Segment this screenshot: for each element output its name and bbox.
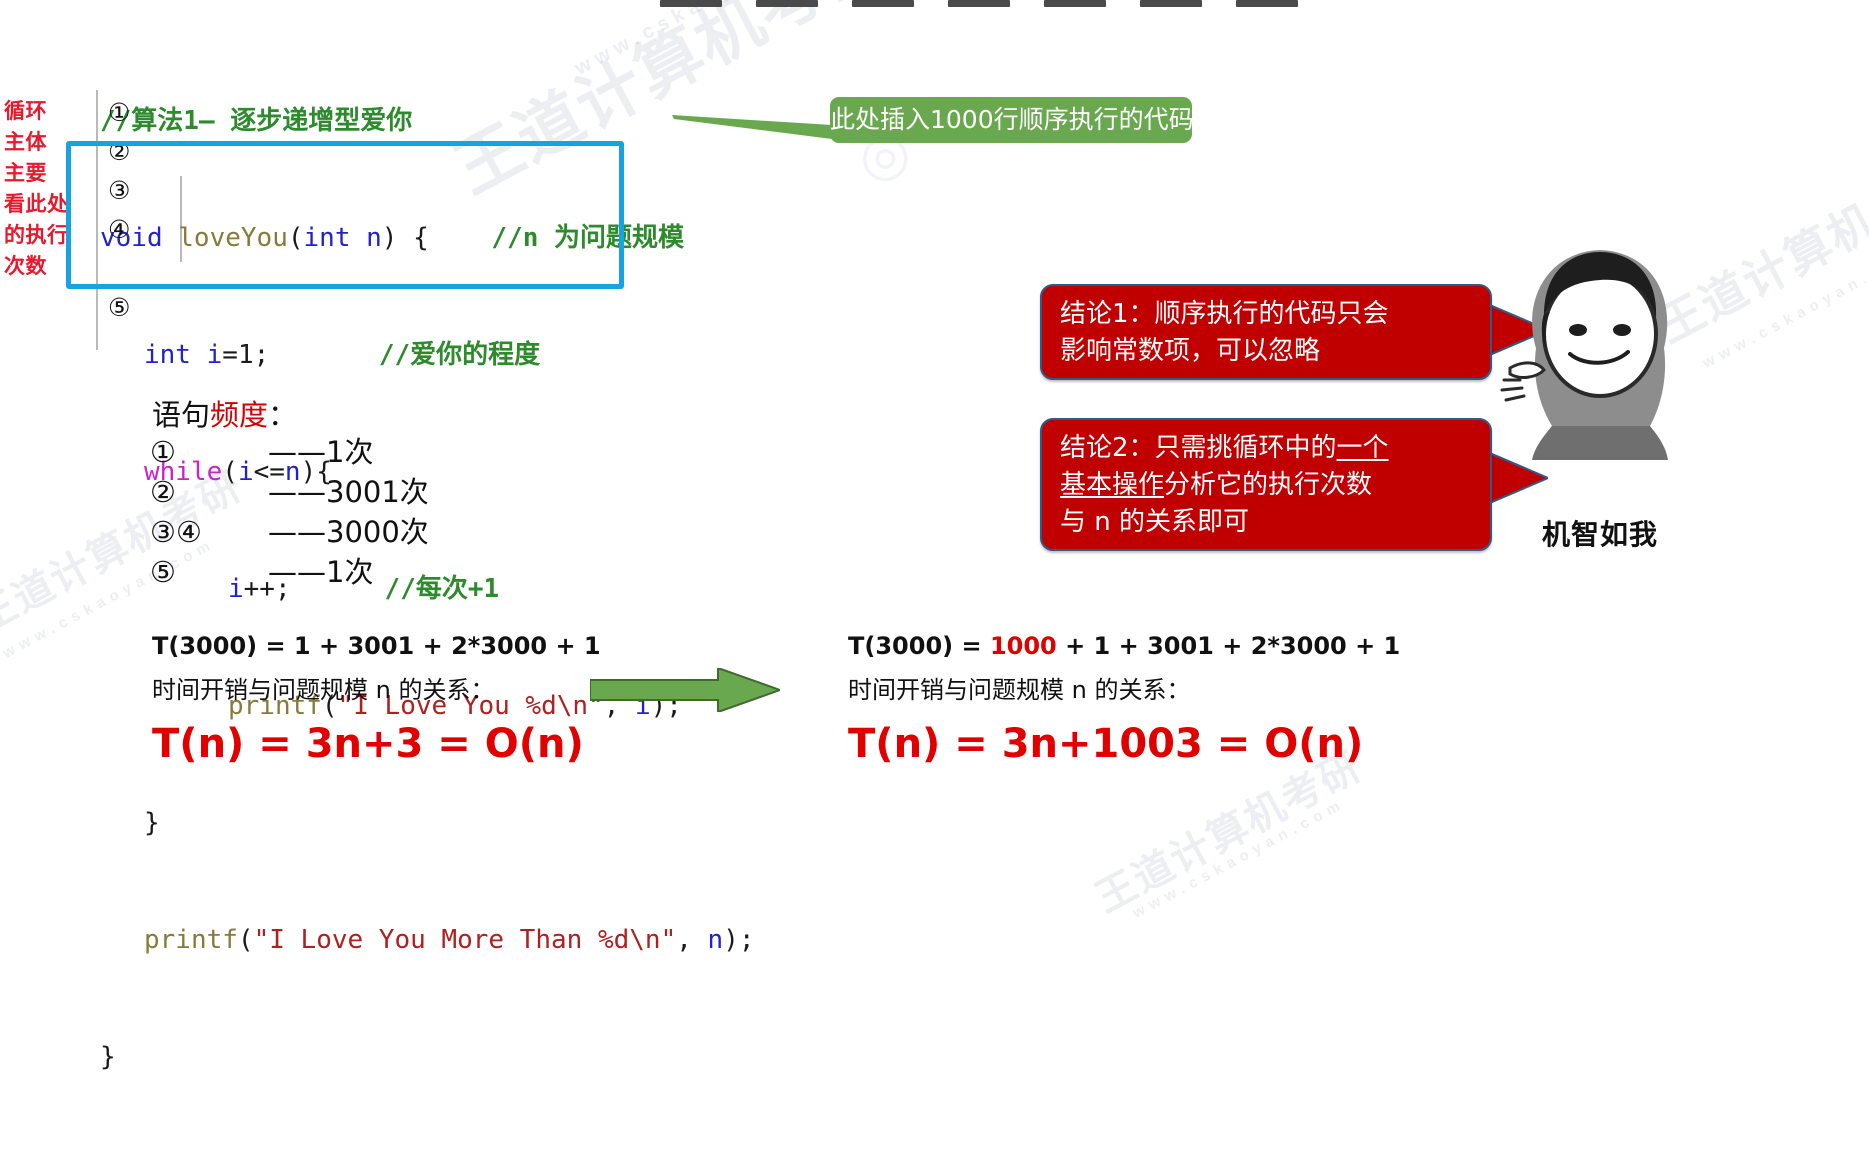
frequency-symbol: ③④ — [150, 512, 268, 552]
code-punct: ; — [254, 340, 270, 370]
frequency-row: ⑤ ——1次 — [150, 552, 429, 592]
frequency-row: ② ——3001次 — [150, 472, 429, 512]
red-callout-2-line2-plain: 分析它的执行次数 — [1164, 470, 1372, 500]
left-formula-block: T(3000) = 1 + 3001 + 2*3000 + 1 时间开销与问题规… — [152, 632, 601, 767]
red-callout-2-line2: 基本操作分析它的执行次数 — [1060, 467, 1472, 504]
code-keyword: int — [144, 340, 191, 370]
watermark-url: www.cskaoyan.com — [1130, 795, 1348, 922]
left-formula-result: T(n) = 3n+3 = O(n) — [152, 721, 601, 767]
frequency-title-prefix: 语句 — [152, 398, 210, 432]
code-line: int i=1; //爱你的程度 — [100, 336, 755, 375]
frequency-row: ③④ ——3000次 — [150, 512, 429, 552]
red-callout-2-line3: 与 n 的关系即可 — [1060, 504, 1472, 541]
frequency-symbol: ⑤ — [150, 552, 268, 592]
frequency-value: ——1次 — [268, 432, 373, 472]
cartoon-avatar — [1500, 230, 1700, 460]
code-identifier: i — [207, 340, 223, 370]
red-callout-1-line2: 影响常数项，可以忽略 — [1060, 333, 1472, 370]
watermark-url: www.cskaoyan.com — [1700, 245, 1869, 372]
frequency-title-highlight: 频度 — [210, 398, 268, 432]
right-formula-added-term: 1000 — [990, 632, 1057, 660]
code-punct: } — [100, 1042, 116, 1072]
code-number: 1 — [238, 340, 254, 370]
right-formula-result: T(n) = 3n+1003 = O(n) — [848, 721, 1400, 767]
code-line: } — [100, 1038, 755, 1077]
code-punct: = — [222, 340, 238, 370]
frequency-value: ——1次 — [268, 552, 373, 592]
green-callout-tail — [672, 113, 832, 139]
loop-body-highlight-box — [66, 141, 624, 289]
left-formula-t3000: T(3000) = 1 + 3001 + 2*3000 + 1 — [152, 632, 601, 660]
red-callout-2-line1-plain: 结论2：只需挑循环中的 — [1060, 433, 1337, 463]
frequency-list: ① ——1次 ② ——3001次 ③④ ——3000次 ⑤ ——1次 — [150, 432, 429, 592]
frequency-row: ① ——1次 — [150, 432, 429, 472]
right-formula-block: T(3000) = 1000 + 1 + 3001 + 2*3000 + 1 时… — [848, 632, 1400, 767]
right-formula-pre: T(3000) = — [848, 632, 990, 660]
code-comment: //算法1— 逐步递增型爱你 — [100, 106, 412, 136]
cartoon-caption: 机智如我 — [1490, 513, 1710, 553]
left-formula-description: 时间开销与问题规模 n 的关系： — [152, 670, 601, 705]
red-callout-2-emphasis-2: 基本操作 — [1060, 470, 1164, 500]
frequency-title: 语句频度： — [152, 392, 297, 434]
frequency-symbol: ② — [150, 472, 268, 512]
code-line: printf("I Love You More Than %d\n", n); — [100, 921, 755, 960]
green-callout: 此处插入1000行顺序执行的代码 — [830, 97, 1192, 143]
right-formula-post: + 1 + 3001 + 2*3000 + 1 — [1057, 632, 1401, 660]
frequency-title-suffix: ： — [268, 398, 297, 432]
code-line: //算法1— 逐步递增型爱你 — [100, 102, 755, 141]
red-callout-1: 结论1：顺序执行的代码只会 影响常数项，可以忽略 — [1040, 284, 1492, 380]
frequency-value: ——3000次 — [268, 512, 429, 552]
frequency-symbol: ① — [150, 432, 268, 472]
right-formula-t3000: T(3000) = 1000 + 1 + 3001 + 2*3000 + 1 — [848, 632, 1400, 660]
red-callout-2: 结论2：只需挑循环中的一个 基本操作分析它的执行次数 与 n 的关系即可 — [1040, 418, 1492, 551]
slide-canvas: 王道计算机考研 www.cskaoyan.com 王道计算机考研 www.csk… — [0, 0, 1869, 930]
green-arrow-icon — [590, 668, 780, 712]
red-callout-2-emphasis-1: 一个 — [1337, 433, 1389, 463]
step-marker: ⑤ — [108, 288, 130, 327]
top-strip — [660, 0, 1360, 10]
loop-note-line: 循环 — [4, 96, 76, 127]
code-comment: //爱你的程度 — [379, 340, 540, 370]
red-callout-2-line1: 结论2：只需挑循环中的一个 — [1060, 430, 1472, 467]
code-line: } — [100, 804, 755, 843]
red-callout-1-line1: 结论1：顺序执行的代码只会 — [1060, 296, 1472, 333]
step-marker: ① — [108, 93, 130, 132]
code-punct: } — [144, 808, 160, 838]
right-formula-description: 时间开销与问题规模 n 的关系： — [848, 670, 1400, 705]
frequency-value: ——3001次 — [268, 472, 429, 512]
green-callout-text: 此处插入1000行顺序执行的代码 — [830, 105, 1194, 134]
